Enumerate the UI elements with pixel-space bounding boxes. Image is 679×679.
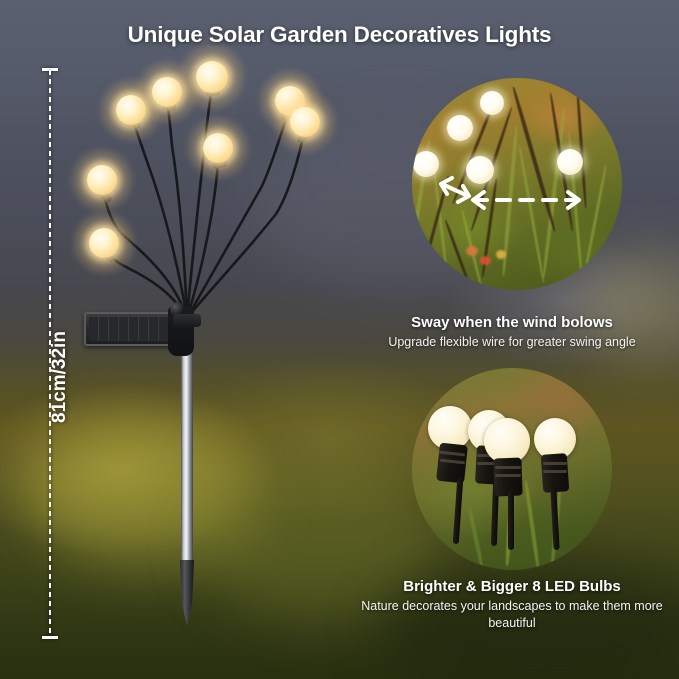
caption-title: Sway when the wind bolows	[352, 314, 672, 331]
caption-title: Brighter & Bigger 8 LED Bulbs	[352, 578, 672, 595]
inset-photo-sway	[412, 78, 622, 290]
caption-subtitle: Upgrade flexible wire for greater swing …	[352, 334, 672, 351]
product-image-stage: Unique Solar Garden Decoratives Lights 8…	[0, 0, 679, 679]
dimension-ruler: 81cm/32in	[42, 66, 58, 641]
ruler-cap-bottom-icon	[42, 636, 58, 639]
caption-subtitle: Nature decorates your landscapes to make…	[352, 598, 672, 632]
dimension-label: 81cm/32in	[49, 297, 71, 457]
page-title: Unique Solar Garden Decoratives Lights	[0, 22, 679, 48]
solar-cells	[89, 317, 175, 341]
sway-arrow-overlay	[412, 78, 622, 290]
wire-hub-collar	[173, 314, 201, 327]
caption-sway: Sway when the wind bolows Upgrade flexib…	[352, 314, 672, 351]
inset-photo-bulb-closeup	[412, 368, 612, 570]
caption-led-bulbs: Brighter & Bigger 8 LED Bulbs Nature dec…	[352, 578, 672, 632]
solar-panel	[84, 312, 180, 346]
